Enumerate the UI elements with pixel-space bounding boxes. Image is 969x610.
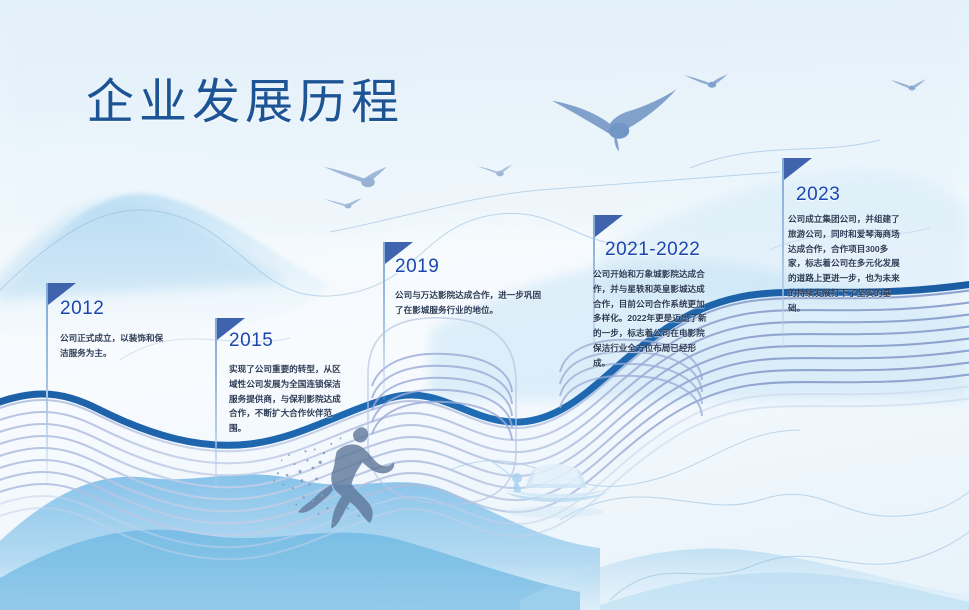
milestone-description: 实现了公司重要的转型，从区域性公司发展为全国连锁保洁服务提供商，与保利影院达成合… <box>229 362 341 436</box>
milestone-year: 2019 <box>395 256 439 278</box>
seagull-icon <box>552 89 676 151</box>
milestone-description: 公司成立集团公司，并组建了旅游公司，同时和爱琴海商场达成合作，合作项目300多家… <box>788 212 902 315</box>
page-title: 企业发展历程 <box>86 62 404 132</box>
milestone-year: 2012 <box>60 298 104 320</box>
milestone-description: 公司与万达影院达成合作，进一步巩固了在影城服务行业的地位。 <box>395 288 543 318</box>
milestone-description: 公司正式成立，以装饰和保洁服务为主。 <box>60 331 170 361</box>
seagull-icon <box>477 165 512 177</box>
seagull-icon <box>324 167 387 187</box>
infographic-canvas: 企业发展历程 2012 公司正式成立，以装饰和保洁服务为主。 2015 实现了公… <box>0 0 969 610</box>
flag-pennant-icon <box>595 215 623 237</box>
seagull-icon <box>684 74 727 88</box>
flag-pole <box>383 242 385 400</box>
milestone-year: 2023 <box>796 184 840 206</box>
flag-pennant-icon <box>784 158 812 180</box>
flag-pole <box>782 158 784 348</box>
milestone-description: 公司开始和万象城影院达成合作，并与星轶和英皇影城达成合作，目前公司合作系统更加多… <box>593 267 710 370</box>
flag-pole <box>46 283 48 483</box>
seagull-icon <box>324 198 362 209</box>
flag-pole <box>215 318 217 498</box>
milestone-year: 2021-2022 <box>605 239 700 261</box>
milestone-year: 2015 <box>229 330 273 352</box>
seagull-icon <box>891 79 926 91</box>
